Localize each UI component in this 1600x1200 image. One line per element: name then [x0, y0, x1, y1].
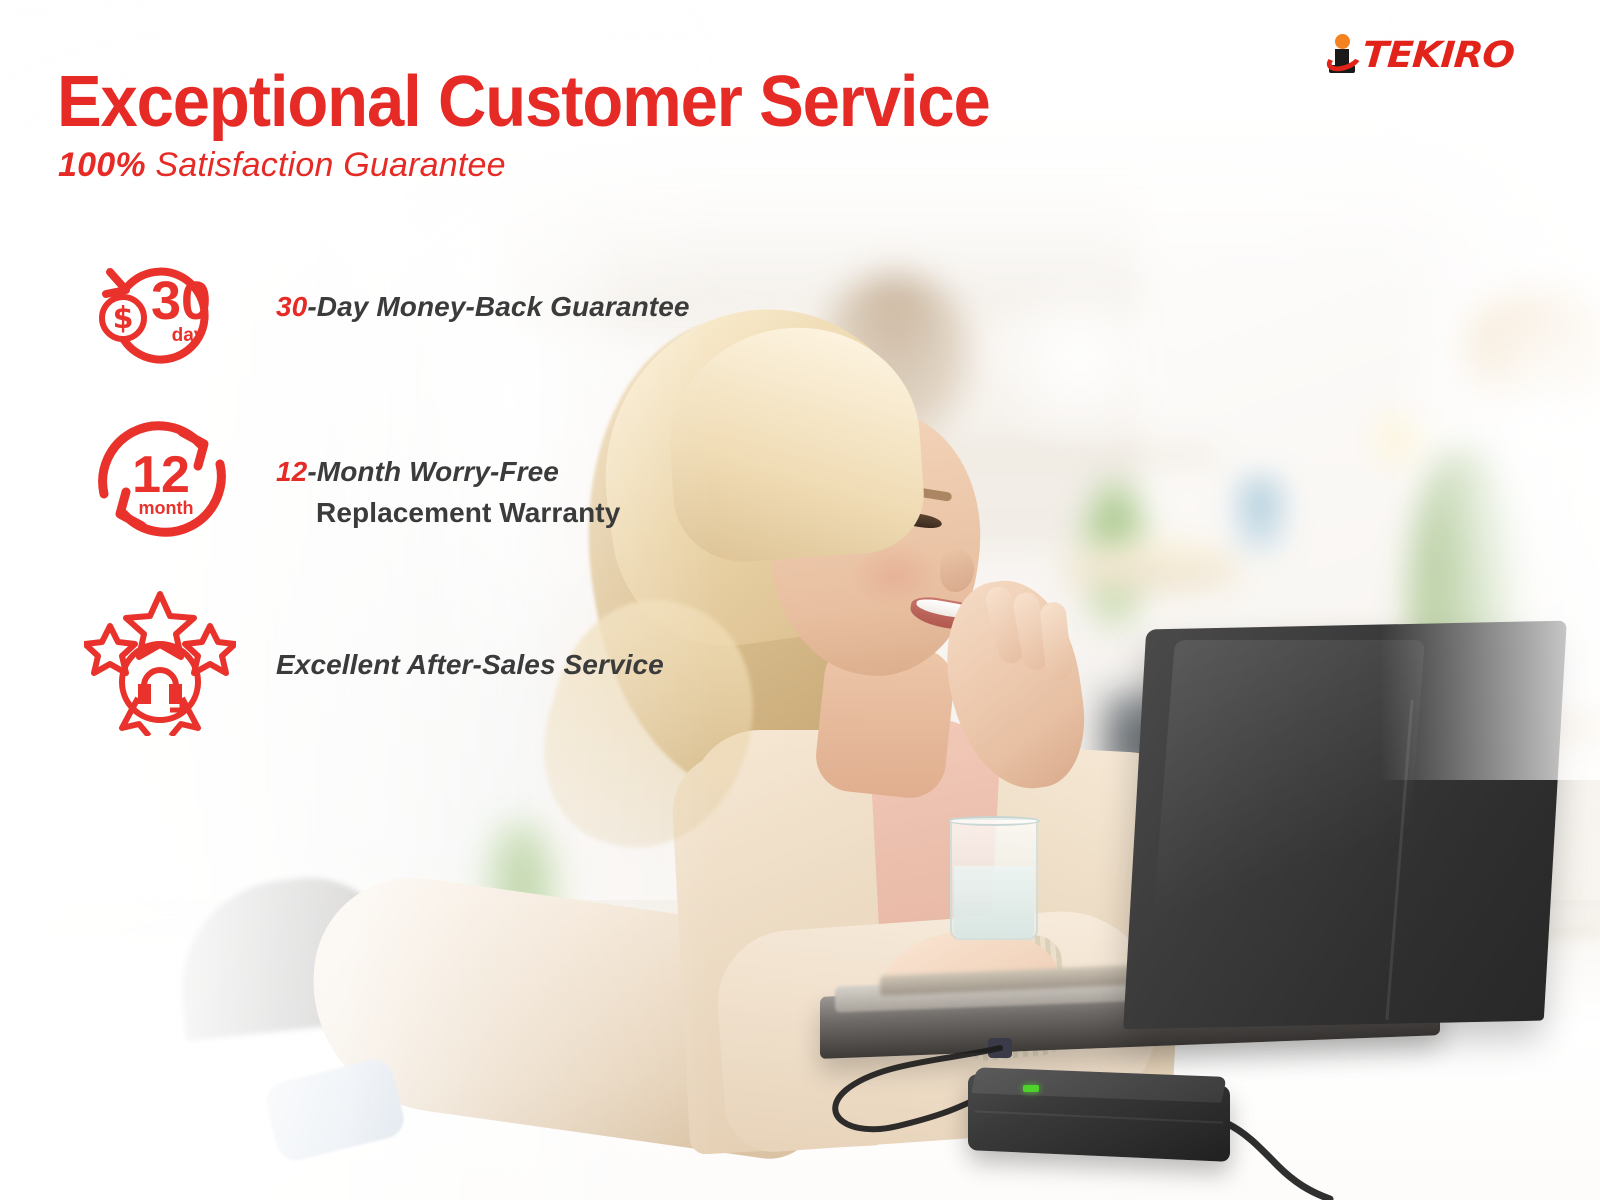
page-title: Exceptional Customer Service [57, 66, 990, 138]
twelve-month-warranty-icon: 12 month [88, 408, 236, 548]
tekiro-logo: TEKIRO [1328, 34, 1504, 74]
headset-icon [138, 670, 182, 710]
feature-number-30: 30 [276, 291, 307, 322]
icon-unit-month: month [139, 498, 194, 518]
feature-label-money-back: 30-Day Money-Back Guarantee [276, 287, 690, 328]
feature-rest-warranty: -Month Worry-Free [307, 456, 559, 487]
poster-canvas: TEKIRO Exceptional Customer Service 100%… [0, 0, 1600, 1200]
feature-rest-after-sales: Excellent After-Sales Service [276, 649, 664, 680]
after-sales-service-badge-icon [84, 586, 236, 736]
logo-orange-dot-icon [1335, 34, 1350, 49]
subtitle-percent: 100% [58, 146, 146, 184]
tekiro-logo-mark-icon [1328, 34, 1358, 74]
icon-number-12: 12 [132, 446, 190, 504]
poster-content: TEKIRO Exceptional Customer Service 100%… [0, 0, 1600, 1200]
icon-number-30: 30 [151, 271, 211, 331]
thirty-day-money-back-icon: $ 30 day [84, 244, 254, 376]
feature-rest-money-back: -Day Money-Back Guarantee [307, 291, 689, 322]
icon-unit-day: day [172, 325, 205, 346]
page-subtitle: 100% Satisfaction Guarantee [58, 146, 506, 185]
feature-number-12: 12 [276, 456, 307, 487]
svg-text:$: $ [113, 301, 134, 336]
feature-label-warranty: 12-Month Worry-Free Replacement Warranty [276, 452, 620, 533]
logo-wordmark: TEKIRO [1361, 38, 1515, 74]
subtitle-rest: Satisfaction Guarantee [146, 146, 506, 184]
feature-warranty-line2: Replacement Warranty [276, 493, 620, 534]
feature-label-after-sales: Excellent After-Sales Service [276, 645, 664, 686]
